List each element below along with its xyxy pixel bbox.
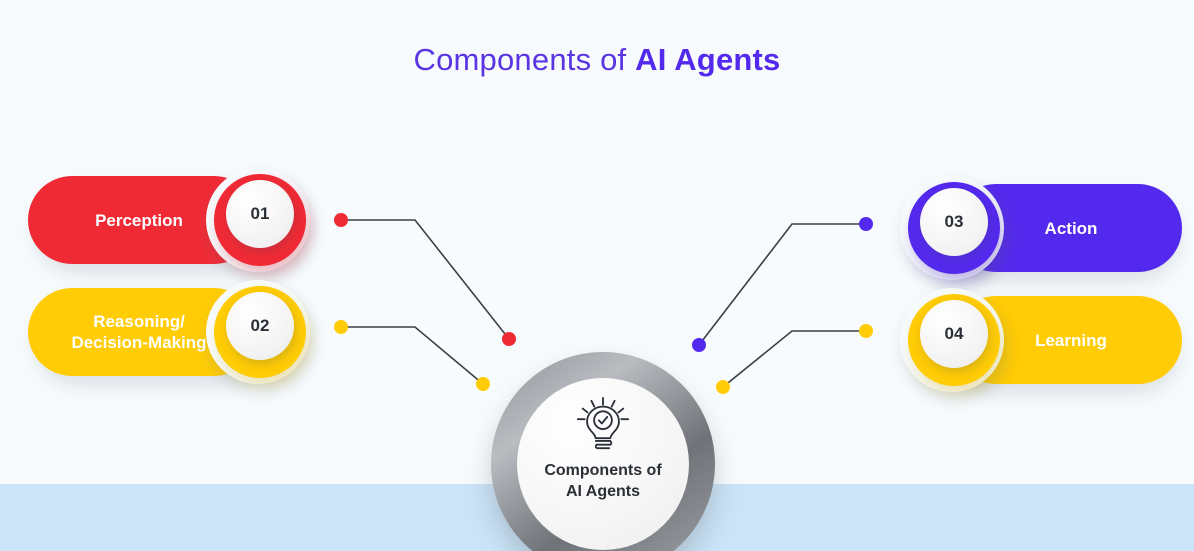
connector-dot-02-end bbox=[476, 377, 490, 391]
node-number-badge-02[interactable]: 02 bbox=[226, 292, 294, 360]
connector-dot-01-end bbox=[502, 332, 516, 346]
node-number-03: 03 bbox=[945, 212, 964, 232]
component-node-reasoning[interactable]: Reasoning/ Decision-Making 02 bbox=[28, 280, 332, 384]
connector-path-01 bbox=[341, 220, 509, 339]
component-node-action[interactable]: Action 03 bbox=[878, 176, 1182, 280]
page-title: Components of AI Agents bbox=[0, 40, 1194, 80]
connector-dot-03-start bbox=[859, 217, 873, 231]
node-label-01: Perception bbox=[95, 210, 183, 231]
lightbulb-check-icon bbox=[572, 396, 634, 454]
node-number-02: 02 bbox=[251, 316, 270, 336]
connector-dot-04-end bbox=[716, 380, 730, 394]
component-node-perception[interactable]: Perception 01 bbox=[28, 168, 332, 272]
node-label-04: Learning bbox=[1035, 330, 1107, 351]
node-number-04: 04 bbox=[945, 324, 964, 344]
connector-dot-03-end bbox=[692, 338, 706, 352]
connector-path-02 bbox=[341, 327, 483, 384]
page-title-highlight: AI Agents bbox=[635, 42, 780, 77]
connector-dot-02-start bbox=[334, 320, 348, 334]
node-number-badge-03[interactable]: 03 bbox=[920, 188, 988, 256]
center-hub[interactable]: Components of AI Agents bbox=[491, 352, 715, 551]
connector-path-04 bbox=[723, 331, 866, 387]
page-title-prefix: Components of bbox=[414, 42, 636, 77]
connector-path-03 bbox=[699, 224, 866, 345]
connector-dot-01-start bbox=[334, 213, 348, 227]
node-number-badge-04[interactable]: 04 bbox=[920, 300, 988, 368]
node-label-02: Reasoning/ Decision-Making bbox=[71, 311, 206, 353]
hub-label: Components of AI Agents bbox=[544, 460, 661, 502]
connector-dot-04-start bbox=[859, 324, 873, 338]
node-number-badge-01[interactable]: 01 bbox=[226, 180, 294, 248]
node-label-03: Action bbox=[1045, 218, 1098, 239]
node-number-01: 01 bbox=[251, 204, 270, 224]
component-node-learning[interactable]: Learning 04 bbox=[878, 288, 1182, 392]
hub-inner-disc: Components of AI Agents bbox=[517, 378, 689, 550]
infographic-canvas: Components of AI Agents Perception 01 Re… bbox=[0, 0, 1194, 551]
